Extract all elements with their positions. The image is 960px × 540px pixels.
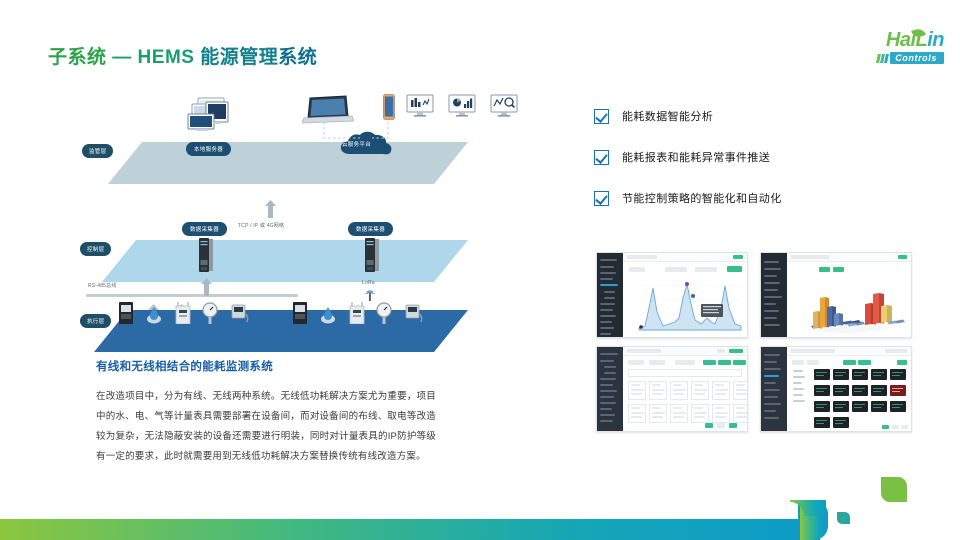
thumb-topbar bbox=[787, 253, 911, 262]
gateway-icon-2 bbox=[364, 238, 380, 272]
logo-brand-b: in bbox=[927, 29, 944, 51]
checklist-label-strategy: 节能控制策略的智能化和自动化 bbox=[622, 190, 782, 206]
smartphone-icon bbox=[383, 94, 395, 120]
node-label-local-server: 本地服务器 bbox=[186, 142, 231, 156]
thumb-topbar bbox=[623, 347, 747, 356]
caption-block: 有线和无线相结合的能耗监测系统 在改造项目中，分为有线、无线两种系统。无线低功耗… bbox=[96, 358, 436, 467]
logo-sub: Controls bbox=[818, 52, 944, 64]
checklist-item-strategy[interactable]: 节能控制策略的智能化和自动化 bbox=[594, 190, 924, 206]
gas-meter-icon bbox=[174, 300, 192, 324]
flow-meter-icon-2 bbox=[404, 302, 424, 324]
thumb-topbar bbox=[787, 347, 911, 356]
thumb-body bbox=[787, 356, 911, 431]
feature-checklist: 能耗数据智能分析 能耗报表和能耗异常事件推送 节能控制策略的智能化和自动化 bbox=[594, 108, 924, 231]
rs485-bus-line bbox=[86, 294, 298, 297]
thumb-card-list[interactable] bbox=[596, 346, 748, 432]
checklist-item-analysis[interactable]: 能耗数据智能分析 bbox=[594, 108, 924, 124]
thumb-body bbox=[623, 356, 747, 431]
caption-rs485: RS-485总线 bbox=[88, 282, 117, 289]
thumb-3d-bar[interactable] bbox=[760, 252, 912, 338]
lora-antenna-icon bbox=[364, 288, 376, 299]
layer-tag-supervision: 监管层 bbox=[82, 144, 113, 158]
cloud-connectors bbox=[316, 120, 402, 144]
bottom-decoration-bar bbox=[0, 500, 960, 540]
thumb-body bbox=[623, 262, 747, 337]
slide-root: 子系统 — HEMS 能源管理系统 HaiLin Controls 监管层 bbox=[0, 0, 960, 540]
page-title-part-1: 子系统 bbox=[48, 47, 112, 68]
layer-tag-execution: 执行层 bbox=[80, 314, 111, 328]
page-title: 子系统 — HEMS 能源管理系统 bbox=[48, 42, 317, 69]
thumb-body bbox=[787, 262, 911, 337]
caption-body: 在改造项目中，分为有线、无线两种系统。无线低功耗解决方案尤为重要，项目中的水、电… bbox=[96, 387, 436, 467]
page-title-part-2: — HEMS bbox=[112, 47, 200, 68]
gateway-icon bbox=[198, 238, 214, 272]
pie-monitor-icon bbox=[448, 94, 476, 118]
checkbox-checked-icon[interactable] bbox=[594, 150, 609, 165]
screenshot-gallery bbox=[596, 252, 916, 434]
node-label-collector-2: 数据采集器 bbox=[348, 222, 393, 236]
thumb-sidebar bbox=[597, 253, 623, 337]
caption-heading: 有线和无线相结合的能耗监测系统 bbox=[96, 358, 436, 374]
gas-meter-icon-2 bbox=[348, 300, 366, 324]
checklist-label-report: 能耗报表和能耗异常事件推送 bbox=[622, 149, 770, 165]
layer-plane-control bbox=[102, 240, 468, 282]
rs485-uplink-arrow-icon bbox=[201, 278, 210, 294]
thumb-sidebar bbox=[597, 347, 623, 431]
node-label-collector-1: 数据采集器 bbox=[182, 222, 227, 236]
architecture-diagram: 监管层 本地服务器 bbox=[80, 82, 540, 342]
thumb-topbar bbox=[623, 253, 747, 262]
checkbox-checked-icon[interactable] bbox=[594, 109, 609, 124]
checklist-label-analysis: 能耗数据智能分析 bbox=[622, 108, 713, 124]
checkbox-checked-icon[interactable] bbox=[594, 191, 609, 206]
layer-tag-control: 控制层 bbox=[80, 242, 111, 256]
page-title-part-3: 能源管理 bbox=[200, 47, 278, 68]
thumb-sidebar bbox=[761, 347, 787, 431]
layer-plane-supervision bbox=[108, 142, 468, 184]
water-sensor-icon bbox=[146, 306, 162, 324]
page-title-part-4: 系统 bbox=[278, 47, 317, 68]
bars-icon bbox=[877, 54, 888, 63]
pressure-gauge-icon bbox=[202, 302, 218, 324]
uplink-arrow-icon bbox=[265, 200, 274, 216]
electric-meter-icon bbox=[118, 302, 134, 324]
dashboard-monitor-icon bbox=[406, 94, 434, 118]
analytics-monitor-icon bbox=[490, 94, 518, 118]
pressure-gauge-icon-2 bbox=[376, 302, 392, 324]
monitor-stack-icon bbox=[184, 96, 236, 136]
flow-meter-icon bbox=[230, 302, 250, 324]
checklist-item-report[interactable]: 能耗报表和能耗异常事件推送 bbox=[594, 149, 924, 165]
caption-lora: LoRa bbox=[362, 280, 375, 286]
water-sensor-icon-2 bbox=[320, 306, 336, 324]
decoration-leaf-green bbox=[881, 477, 907, 502]
caption-uplink: TCP / IP 或 4G网络 bbox=[238, 222, 284, 229]
thumb-device-grid[interactable] bbox=[760, 346, 912, 432]
decoration-leaf-teal bbox=[837, 512, 850, 524]
thumb-trend-chart[interactable] bbox=[596, 252, 748, 338]
hailin-logo: HaiLin Controls bbox=[818, 30, 944, 70]
thumb-sidebar bbox=[761, 253, 787, 337]
logo-sub-label: Controls bbox=[890, 52, 944, 64]
electric-meter-icon-2 bbox=[292, 302, 308, 324]
